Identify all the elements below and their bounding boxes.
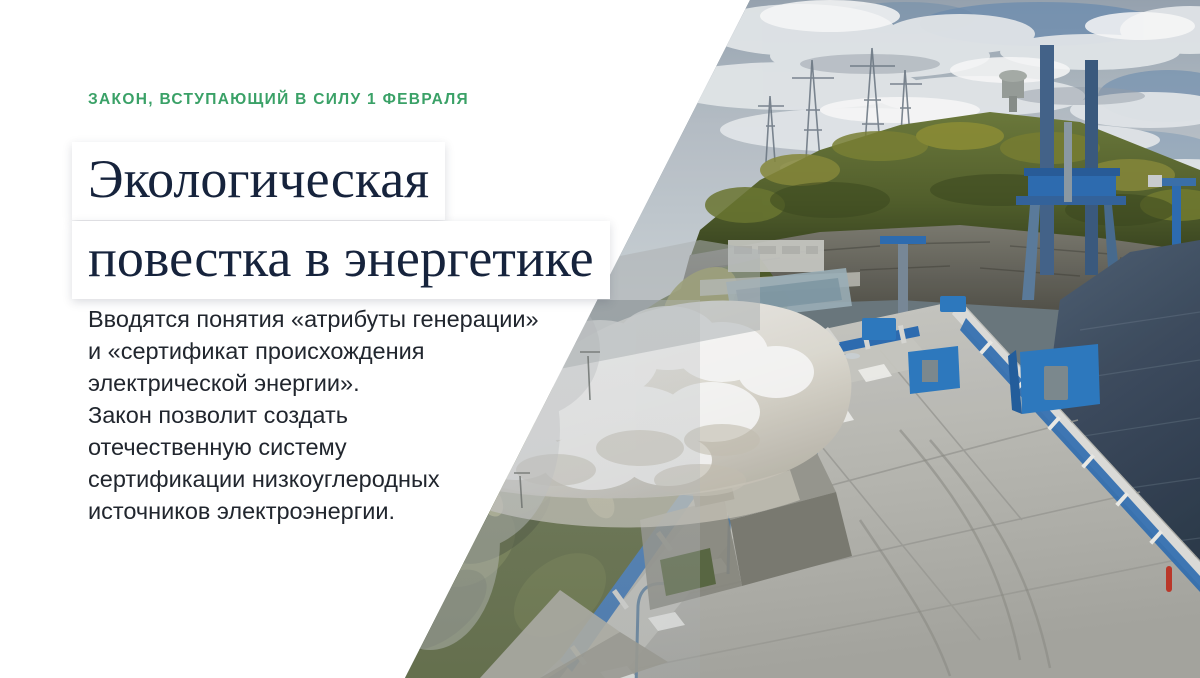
slide: ЗАКОН, ВСТУПАЮЩИЙ В СИЛУ 1 ФЕВРАЛЯ Эколо… <box>0 0 1200 678</box>
page-title-line-1: Экологическая <box>72 142 445 220</box>
body-paragraph: Вводятся понятия «атрибуты генерации» и … <box>88 303 628 527</box>
page-title-line-2: повестка в энергетике <box>72 221 610 299</box>
eyebrow-label: ЗАКОН, ВСТУПАЮЩИЙ В СИЛУ 1 ФЕВРАЛЯ <box>88 91 469 109</box>
